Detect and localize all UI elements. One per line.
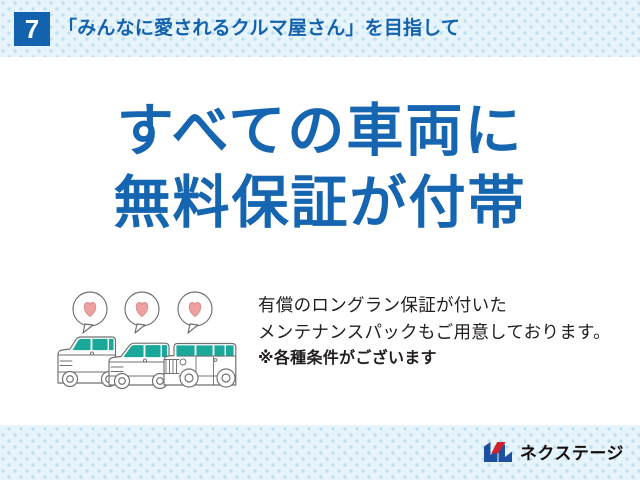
body-line-1: 有償のロングラン保証が付いた [258, 292, 633, 319]
body-note: ※各種条件がございます [258, 346, 633, 372]
headline-block: すべての車両に 無料保証が付帯 [0, 95, 640, 239]
brand-logo: ネクステージ [483, 439, 624, 464]
cars-and-hearts-svg [52, 289, 252, 399]
headline-line-1: すべての車両に [0, 95, 640, 167]
header-bar: 7 「みんなに愛されるクルマ屋さん」を目指して [0, 0, 640, 57]
content-card: すべての車両に 無料保証が付帯 [0, 57, 640, 425]
car-middle-minivan [109, 343, 169, 388]
brand-name: ネクステージ [520, 439, 624, 464]
body-line-2: メンテナンスパックもご用意しております。 [258, 319, 633, 346]
nextage-n-logo-icon [483, 441, 513, 463]
car-right-suv [164, 344, 236, 388]
heart-bubble-3 [178, 292, 212, 333]
footer-bar: ネクステージ [0, 425, 640, 480]
heart-bubble-1 [73, 292, 107, 333]
headline-line-2: 無料保証が付帯 [0, 167, 640, 239]
header-title: 「みんなに愛されるクルマ屋さん」を目指して [58, 13, 460, 40]
body-text-block: 有償のロングラン保証が付いた メンテナンスパックもご用意しております。 ※各種条… [258, 292, 633, 372]
warranty-promo-banner: 7 「みんなに愛されるクルマ屋さん」を目指して すべての車両に 無料保証が付帯 [0, 0, 640, 480]
heart-bubble-2 [125, 292, 159, 333]
section-number-badge: 7 [14, 12, 50, 46]
feature-row: 有償のロングラン保証が付いた メンテナンスパックもご用意しております。 ※各種条… [0, 289, 640, 409]
car-left-kei-wagon [58, 337, 117, 387]
three-cars-illustration [52, 289, 252, 399]
